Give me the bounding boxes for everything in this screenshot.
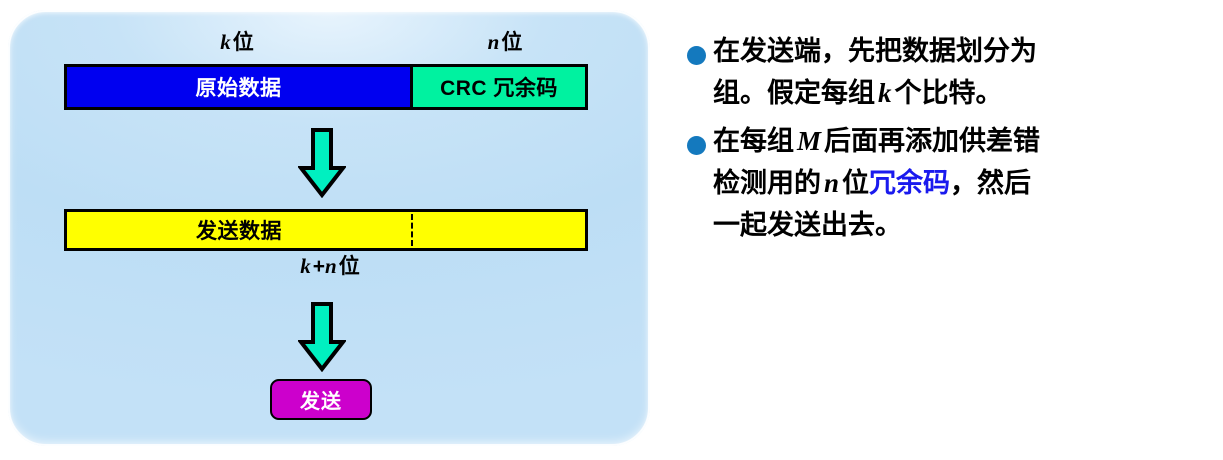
bar-original-data-label: 原始数据 [196, 72, 282, 102]
bullet-list: 在发送端，先把数据划分为组。假定每组k个比特。在每组M后面再添加供差错检测用的n… [676, 30, 1216, 252]
text-segment: 一起发送出去。 [713, 210, 902, 240]
k-variable: k [220, 30, 233, 54]
plus-sign: + [313, 255, 325, 278]
bar-original-data: 原始数据 [64, 64, 412, 110]
kn-unit: 位 [339, 255, 360, 278]
send-box-label: 发送 [300, 385, 342, 414]
text-segment: 个比特。 [895, 78, 1003, 108]
inline-variable: n [821, 168, 842, 198]
bar-send-data: 发送数据 [64, 209, 588, 251]
send-box: 发送 [270, 379, 372, 420]
n-variable-2: n [325, 254, 339, 278]
label-n-bits: n位 [445, 32, 565, 53]
text-segment: 组。假定每组 [713, 78, 875, 108]
bullet-text: 在发送端，先把数据划分为组。假定每组k个比特。 [713, 30, 1216, 114]
k-unit: 位 [233, 31, 254, 54]
bullet-line: 检测用的n位冗余码，然后 [713, 162, 1216, 204]
bullet-item: 在发送端，先把数据划分为组。假定每组k个比特。 [676, 30, 1216, 114]
down-arrow-icon-bottom [298, 302, 346, 372]
down-arrow-icon-top [298, 128, 346, 198]
text-segment: 在发送端，先把数据划分为 [713, 36, 1037, 66]
n-variable: n [488, 30, 502, 54]
bullet-dot-icon [687, 136, 706, 155]
text-segment: 位 [842, 168, 869, 198]
label-k-bits: k位 [177, 32, 297, 53]
bullet-line: 在每组M后面再添加供差错 [713, 120, 1216, 162]
text-segment: 在每组 [713, 126, 794, 156]
n-unit: 位 [501, 31, 522, 54]
label-k-plus-n-bits: k+n位 [254, 256, 406, 277]
k-variable-2: k [300, 254, 313, 278]
bar-crc-redundancy: CRC 冗余码 [410, 64, 588, 110]
highlighted-term: 冗余码 [869, 168, 950, 198]
bullet-item: 在每组M后面再添加供差错检测用的n位冗余码，然后一起发送出去。 [676, 120, 1216, 246]
bar-crc-redundancy-label: CRC 冗余码 [440, 72, 558, 102]
bullet-line: 在发送端，先把数据划分为 [713, 30, 1216, 72]
bullet-text: 在每组M后面再添加供差错检测用的n位冗余码，然后一起发送出去。 [713, 120, 1216, 246]
inline-variable: k [875, 78, 895, 108]
inline-variable: M [794, 126, 824, 156]
text-segment: ，然后 [950, 168, 1031, 198]
send-data-divider [411, 214, 413, 246]
bar-send-data-label: 发送数据 [67, 215, 411, 245]
bullet-dot-icon [687, 46, 706, 65]
bullet-line: 一起发送出去。 [713, 204, 1216, 246]
bullet-line: 组。假定每组k个比特。 [713, 72, 1216, 114]
text-segment: 后面再添加供差错 [824, 126, 1040, 156]
text-segment: 检测用的 [713, 168, 821, 198]
